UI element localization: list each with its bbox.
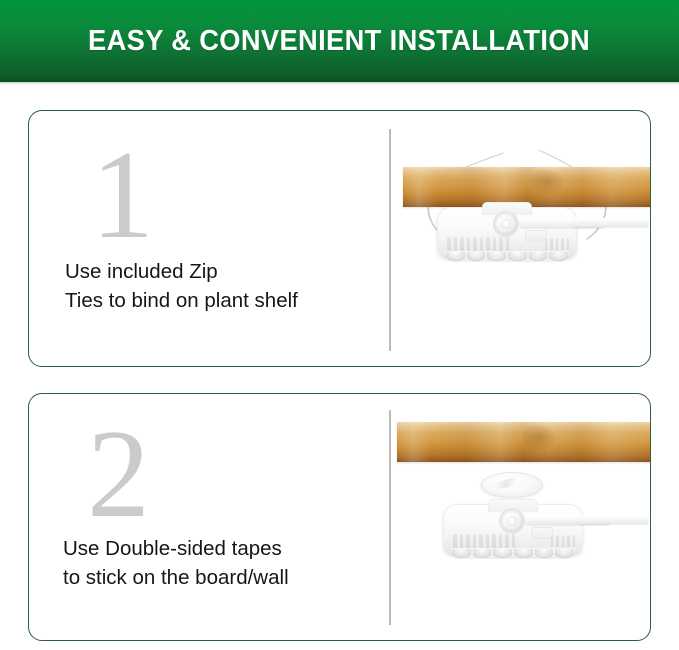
grow-light-fixture [437,207,577,259]
step-2-line-2: to stick on the board/wall [63,563,289,592]
double-sided-tape-pad [481,472,543,498]
fixture-heat-fins-left [447,237,509,251]
step-2-line-1: Use Double-sided tapes [63,534,289,563]
step-1-number: 1 [91,133,154,259]
power-cable-extension [577,515,649,524]
step-1-line-2: Ties to bind on plant shelf [65,286,298,315]
step-1-line-1: Use included Zip [65,257,298,286]
fixture-knob-icon [493,211,519,237]
step-card-1: 1 Use included Zip Ties to bind on plant… [28,110,651,367]
bamboo-shelf-board [403,167,651,207]
step-1-text-column: 1 Use included Zip Ties to bind on plant… [29,111,389,366]
step-2-text-column: 2 Use Double-sided tapes to stick on the… [29,394,389,640]
header-banner: EASY & CONVENIENT INSTALLATION [0,0,679,82]
fixture-led-lenses [445,251,569,262]
fixture-knob-icon [499,508,525,534]
header-underline-divider [0,82,679,85]
fixture-port [525,230,547,242]
step-1-illustration [359,111,651,366]
step-2-number: 2 [87,412,150,538]
fixture-heat-fins-right [551,535,575,547]
bamboo-shelf-board [397,422,651,462]
step-1-description: Use included Zip Ties to bind on plant s… [65,257,298,315]
grow-light-fixture [443,504,583,556]
step-2-description: Use Double-sided tapes to stick on the b… [63,534,289,592]
wood-knot [522,425,556,451]
step-2-illustration [359,394,651,640]
fixture-heat-fins-left [453,534,515,548]
fixture-heat-fins-right [545,238,569,250]
power-cable-extension [571,218,649,227]
wood-grain-texture [403,167,651,207]
page-title: EASY & CONVENIENT INSTALLATION [89,25,591,58]
fixture-port [531,527,553,539]
step-card-2: 2 Use Double-sided tapes to stick on the… [28,393,651,641]
fixture-led-lenses [451,548,575,559]
